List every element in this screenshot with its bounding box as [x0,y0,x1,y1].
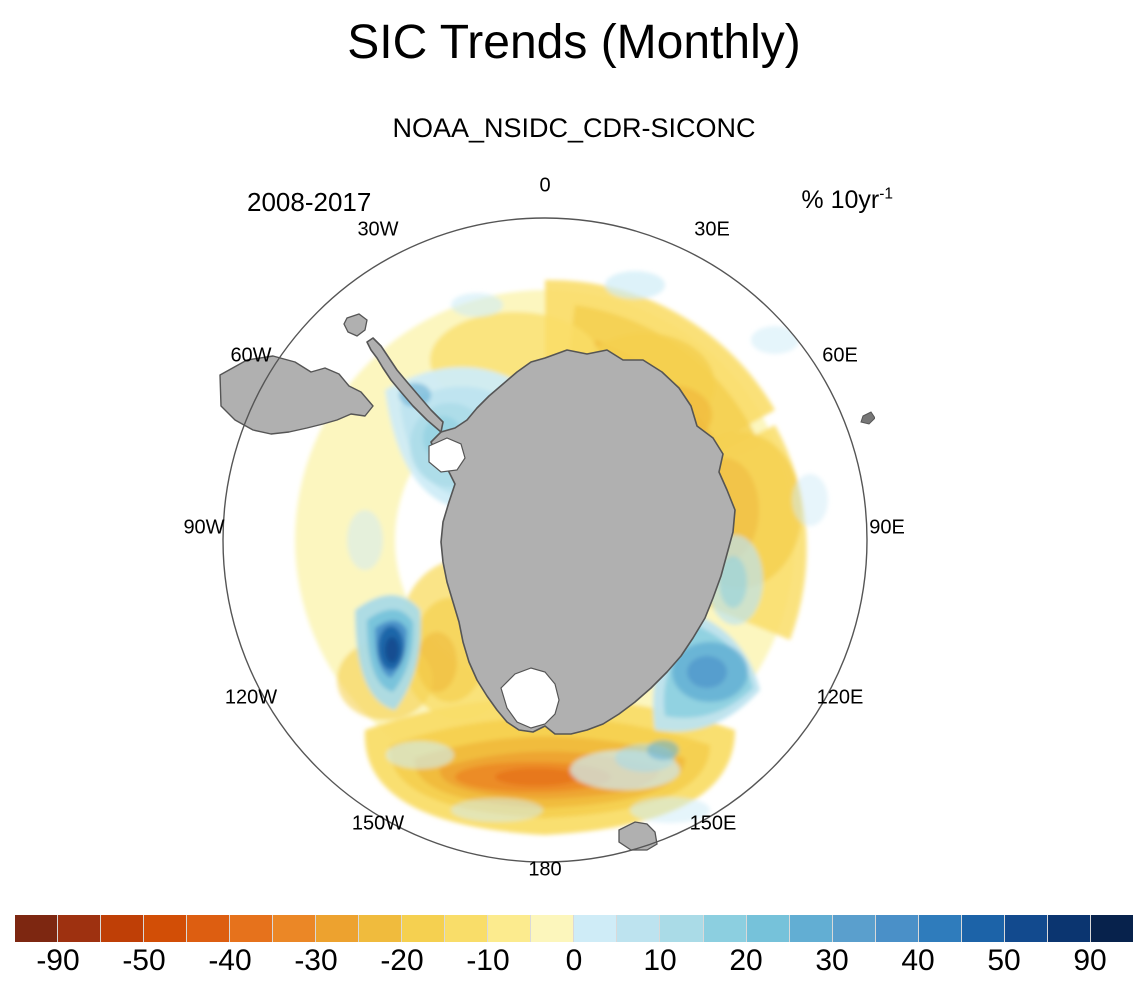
colorbar-tick-label: -50 [122,944,165,978]
colorbar-cell [876,915,918,942]
longitude-label-150w: 150W [352,813,404,836]
longitude-label-60e: 60E [822,345,858,368]
colorbar-cell [1091,915,1133,942]
colorbar-cell [704,915,746,942]
colorbar-cell [230,915,272,942]
colorbar-cell [1005,915,1047,942]
figure-canvas: SIC Trends (Monthly) NOAA_NSIDC_CDR-SICO… [0,0,1148,1005]
colorbar-tick-label: -10 [466,944,509,978]
colorbar-cell [488,915,530,942]
colorbar-cell [58,915,100,942]
colorbar-cell [962,915,1004,942]
colorbar-cell [445,915,487,942]
colorbar-tick-label: 0 [566,944,583,978]
dataset-subtitle: NOAA_NSIDC_CDR-SICONC [0,113,1148,144]
colorbar-cell [790,915,832,942]
colorbar-cell [919,915,961,942]
longitude-label-60w: 60W [230,345,271,368]
longitude-label-150e: 150E [690,813,737,836]
colorbar-cell [359,915,401,942]
units-exponent: -1 [879,186,893,203]
longitude-label-30w: 30W [357,219,398,242]
longitude-label-30e: 30E [694,219,730,242]
colorbar-cell [273,915,315,942]
colorbar-tick-labels: -90-50-40-30-20-100102030405090 [15,944,1133,984]
colorbar-cell [531,915,573,942]
colorbar[interactable] [15,915,1133,942]
page-title: SIC Trends (Monthly) [0,18,1148,68]
colorbar-tick-label: 90 [1073,944,1106,978]
longitude-label-180: 180 [528,859,561,882]
colorbar-tick-label: -90 [36,944,79,978]
longitude-label-0: 0 [539,175,550,198]
longitude-label-90e: 90E [869,517,905,540]
colorbar-cell [402,915,444,942]
colorbar-cell [144,915,186,942]
colorbar-tick-label: -20 [380,944,423,978]
colorbar-cell [574,915,616,942]
colorbar-cell [833,915,875,942]
colorbar-tick-label: 30 [815,944,848,978]
colorbar-tick-label: 20 [729,944,762,978]
colorbar-tick-label: -30 [294,944,337,978]
colorbar-cell [747,915,789,942]
longitude-label-120w: 120W [225,687,277,710]
longitude-label-90w: 90W [183,517,224,540]
colorbar-cell [1048,915,1090,942]
colorbar-tick-label: -40 [208,944,251,978]
colorbar-cell [15,915,57,942]
polar-map-panel: 030E60E90E120E150E180150W120W90W60W30W [215,210,875,870]
colorbar-tick-label: 50 [987,944,1020,978]
colorbar-tick-label: 10 [643,944,676,978]
colorbar-cell [101,915,143,942]
colorbar-cell [660,915,702,942]
colorbar-cell [617,915,659,942]
colorbar-cell [316,915,358,942]
polar-map [215,210,875,870]
colorbar-tick-label: 40 [901,944,934,978]
colorbar-cell [187,915,229,942]
longitude-label-120e: 120E [817,687,864,710]
